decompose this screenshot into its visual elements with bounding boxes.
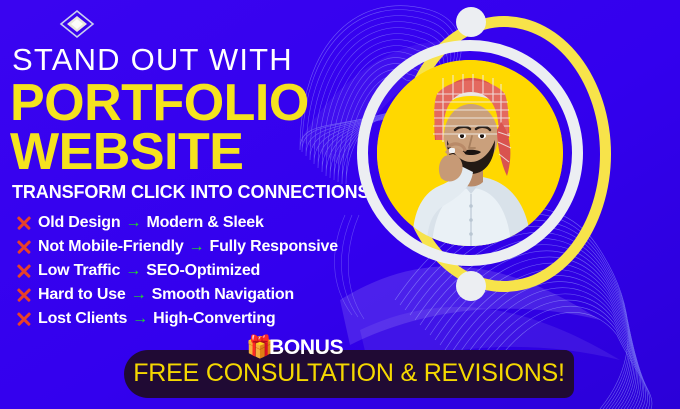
benefit-problem: Old Design — [38, 214, 120, 232]
diamond-logo-icon[interactable] — [58, 9, 96, 39]
x-mark-icon — [16, 312, 31, 327]
headline-eyebrow: STAND OUT WITH — [12, 44, 360, 75]
benefit-problem: Low Traffic — [38, 262, 120, 280]
list-item: Lost Clients → High-Converting — [16, 308, 338, 330]
title-line-2: WEBSITE — [10, 128, 360, 177]
gig-thumbnail-banner: STAND OUT WITH PORTFOLIO WEBSITE TRANSFO… — [0, 0, 680, 409]
list-item: Old Design → Modern & Sleek — [16, 212, 338, 234]
portrait-cluster — [355, 8, 605, 298]
x-mark-icon — [16, 240, 31, 255]
benefit-solution: Smooth Navigation — [152, 286, 294, 304]
list-item: Hard to Use → Smooth Navigation — [16, 284, 338, 306]
headline-tagline: TRANSFORM CLICK INTO CONNECTIONS — [12, 183, 360, 201]
arrow-right-icon: → — [131, 287, 147, 303]
headline-block: STAND OUT WITH PORTFOLIO WEBSITE TRANSFO… — [10, 44, 360, 201]
benefit-problem: Not Mobile-Friendly — [38, 238, 184, 256]
list-item: Low Traffic → SEO-Optimized — [16, 260, 338, 282]
benefit-problem: Lost Clients — [38, 310, 127, 328]
benefit-solution: Fully Responsive — [210, 238, 338, 256]
avatar-photo — [377, 60, 563, 246]
white-dot — [456, 271, 486, 301]
white-dot — [456, 7, 486, 37]
benefit-solution: SEO-Optimized — [146, 262, 260, 280]
list-item: Not Mobile-Friendly → Fully Responsive — [16, 236, 338, 258]
bonus-label: BONUS — [269, 337, 343, 358]
bonus-offer-text: FREE CONSULTATION & REVISIONS! — [124, 361, 574, 386]
benefit-solution: High-Converting — [153, 310, 275, 328]
benefit-problem: Hard to Use — [38, 286, 126, 304]
page-title: PORTFOLIO WEBSITE — [10, 79, 360, 177]
x-mark-icon — [16, 216, 31, 231]
arrow-right-icon: → — [132, 311, 148, 327]
benefit-solution: Modern & Sleek — [146, 214, 263, 232]
x-mark-icon — [16, 264, 31, 279]
arrow-right-icon: → — [189, 239, 205, 255]
arrow-right-icon: → — [125, 215, 141, 231]
arrow-right-icon: → — [125, 263, 141, 279]
benefits-list: Old Design → Modern & Sleek Not Mobile-F… — [16, 212, 338, 332]
x-mark-icon — [16, 288, 31, 303]
